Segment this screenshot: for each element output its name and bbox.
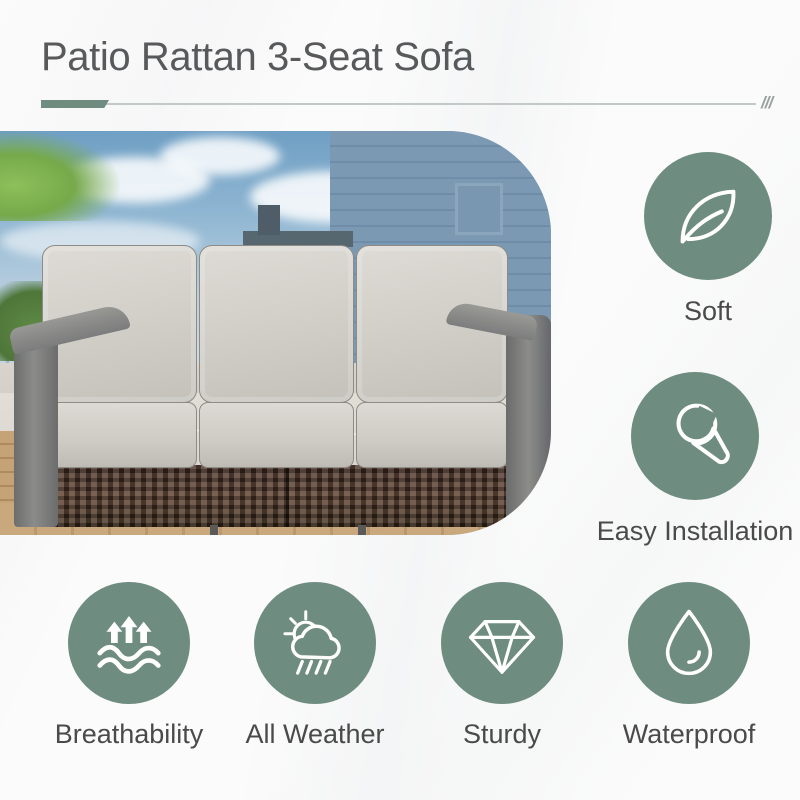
- title-divider: [41, 100, 756, 108]
- photo-seat-cushion: [199, 402, 354, 468]
- leaf-icon: [671, 179, 745, 253]
- photo-sofa-arm-right: [506, 315, 551, 525]
- feature-icon-circle: [628, 582, 750, 704]
- feature-easy-installation[interactable]: Easy Installation: [590, 372, 800, 545]
- breathability-icon: [93, 607, 165, 679]
- sun-cloud-rain-icon: [278, 606, 352, 680]
- feature-breathability[interactable]: Breathability: [44, 582, 214, 748]
- feature-label: Soft: [618, 298, 798, 325]
- water-drop-icon: [653, 607, 725, 679]
- photo-sofa-leg: [358, 525, 366, 535]
- photo-sofa-wicker-base: [42, 465, 506, 527]
- feature-icon-circle: [644, 152, 772, 280]
- photo-back-cushion: [199, 245, 354, 403]
- feature-icon-circle: [441, 582, 563, 704]
- feature-label: Easy Installation: [590, 518, 800, 545]
- feature-label: Waterproof: [604, 721, 774, 748]
- photo-sofa-wicker-seam: [286, 465, 289, 527]
- feature-label: Sturdy: [417, 721, 587, 748]
- feature-waterproof[interactable]: Waterproof: [604, 582, 774, 748]
- feature-soft[interactable]: Soft: [618, 152, 798, 325]
- photo-cloud: [160, 137, 280, 175]
- diamond-icon: [466, 607, 538, 679]
- photo-seat-cushion: [356, 402, 508, 468]
- feature-icon-circle: [68, 582, 190, 704]
- feature-label: Breathability: [44, 721, 214, 748]
- photo-sofa-arm-left: [14, 337, 58, 527]
- photo-sofa-leg: [210, 525, 218, 535]
- feature-icon-circle: [254, 582, 376, 704]
- divider-slashes-decoration: ///: [761, 93, 772, 113]
- product-photo: [0, 131, 551, 535]
- feature-icon-circle: [631, 372, 759, 500]
- feature-all-weather[interactable]: All Weather: [230, 582, 400, 748]
- infographic-page: Patio Rattan 3-Seat Sofa ///: [0, 0, 800, 800]
- divider-line: [41, 103, 756, 105]
- feature-label: All Weather: [230, 721, 400, 748]
- page-title: Patio Rattan 3-Seat Sofa: [41, 34, 474, 80]
- wrench-icon: [657, 398, 733, 474]
- photo-sofa: [14, 189, 551, 535]
- divider-accent-bar: [41, 100, 109, 108]
- photo-seat-cushion: [42, 402, 197, 468]
- feature-sturdy[interactable]: Sturdy: [417, 582, 587, 748]
